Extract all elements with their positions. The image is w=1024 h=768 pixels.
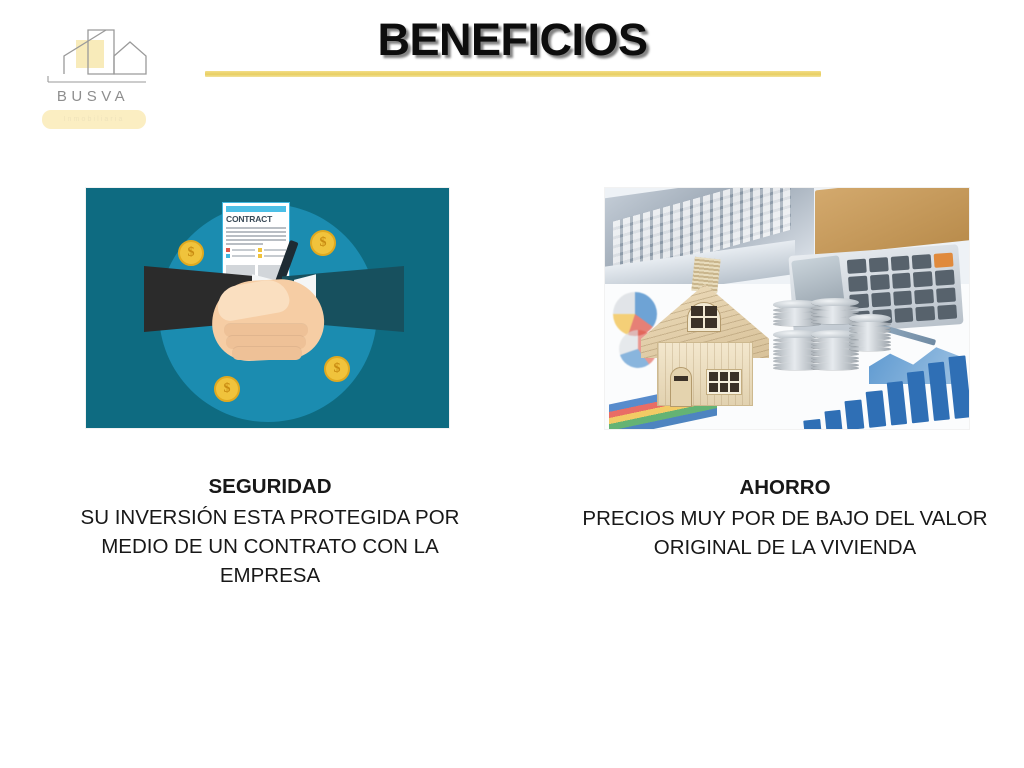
contract-header-bar <box>226 206 286 212</box>
logo-tagline: Inmobiliaria <box>64 116 125 123</box>
ahorro-photo <box>605 188 969 429</box>
house-window <box>706 369 742 395</box>
ahorro-body-text: PRECIOS MUY POR DE BAJO DEL VALOR ORIGIN… <box>565 504 1005 562</box>
wooden-house-model <box>641 258 769 408</box>
slide-title: BENEFICIOS <box>200 17 825 62</box>
busva-building-mark-icon <box>34 26 152 92</box>
dollar-coin-icon: $ <box>324 356 350 382</box>
seguridad-illustration: CONTRACT $ $ $ $ <box>86 188 449 428</box>
logo-tagline-pill: Inmobiliaria <box>42 110 146 129</box>
benefit-panel-ahorro: AHORRO PRECIOS MUY POR DE BAJO DEL VALOR… <box>565 188 1005 562</box>
seguridad-caption: SEGURIDAD SU INVERSIÓN ESTA PROTEGIDA PO… <box>50 472 490 590</box>
house-body <box>657 342 753 406</box>
logo-wordmark: BUSVA <box>34 88 152 105</box>
dollar-coin-icon: $ <box>310 230 336 256</box>
brand-logo: BUSVA Inmobiliaria <box>34 26 152 134</box>
benefit-panel-seguridad: CONTRACT $ $ $ $ <box>50 188 490 590</box>
coin-stack <box>849 314 891 351</box>
title-underline-rule <box>205 71 821 77</box>
ahorro-caption: AHORRO PRECIOS MUY POR DE BAJO DEL VALOR… <box>565 473 1005 562</box>
hand-finger <box>232 347 302 360</box>
contract-title-text: CONTRACT <box>226 215 286 224</box>
ahorro-heading: AHORRO <box>565 473 1005 502</box>
contract-checkbox-rows <box>226 248 286 260</box>
seguridad-heading: SEGURIDAD <box>50 472 490 501</box>
house-attic-window <box>687 302 721 332</box>
seguridad-body-text: SU INVERSIÓN ESTA PROTEGIDA POR MEDIO DE… <box>50 503 490 590</box>
house-door <box>670 367 692 407</box>
dollar-coin-icon: $ <box>214 376 240 402</box>
dollar-coin-icon: $ <box>178 240 204 266</box>
